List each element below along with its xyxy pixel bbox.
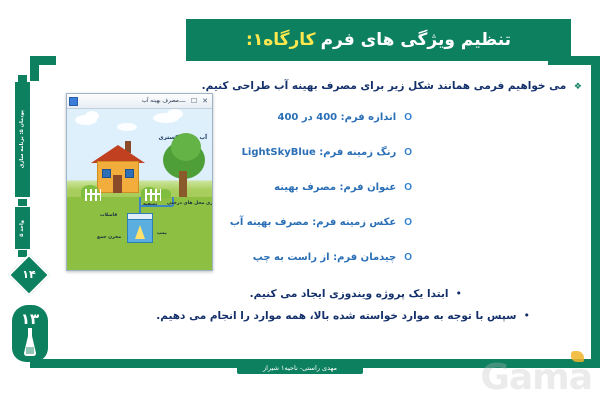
sewage-label: فاضلاب (100, 213, 117, 218)
list-item: O عکس زمینه فرم: مصرف بهینه آب (242, 217, 582, 252)
list-item-label: عکس زمینه فرم: مصرف بهینه آب (230, 217, 396, 228)
list-item-label: عنوان فرم: مصرف بهینه (274, 182, 396, 193)
app-titlebar: مصرف بهینه آب — ☐ ✕ (67, 94, 212, 109)
app-window-title: مصرف بهینه آب (81, 98, 179, 104)
fence-icon (145, 189, 161, 201)
minimize-icon[interactable]: — (179, 98, 186, 105)
tank-label: مخزن جمع (97, 235, 121, 240)
diamond-page-number: ۱۴ (16, 262, 42, 288)
list-item-label: ابتدا یک پروژه ویندوزی ایجاد می کنیم. (250, 288, 449, 300)
list-item: • سپس با توجه به موارد خواسته شده بالا، … (182, 310, 582, 332)
cloud-icon (167, 109, 183, 119)
house-window-icon (125, 169, 134, 178)
list-marker-icon: O (404, 252, 412, 263)
rail-chapter-block: پودمان ۵: برنامه سازی (15, 82, 30, 197)
rail-section-block: واحد ۵ (15, 207, 30, 249)
slide-root: تنظیم ویژگی های فرم کارگاه۱: پودمان ۵: ب… (0, 0, 600, 400)
list-item: O رنگ زمینه فرم: LightSkyBlue (242, 147, 582, 182)
bullet-icon: • (456, 288, 463, 299)
list-item: • ابتدا یک پروژه ویندوزی ایجاد می کنیم. (182, 288, 582, 310)
app-window-screenshot: مصرف بهینه آب — ☐ ✕ آب های خاکستری (66, 93, 213, 271)
house-door-icon (113, 175, 122, 193)
rail-section-label: واحد ۵ (19, 220, 26, 237)
list-item-label: سپس با توجه به موارد خواسته شده بالا، هم… (156, 310, 516, 322)
requirements-list: O اندازه فرم: 400 در 400 O رنگ زمینه فرم… (242, 112, 582, 287)
list-item-label: رنگ زمینه فرم: LightSkyBlue (242, 147, 397, 158)
list-item: O چیدمان فرم: از راست به چپ (242, 252, 582, 287)
rail-cap-mid (18, 199, 27, 206)
bullet-icon: • (524, 310, 531, 321)
rail-chapter-label: پودمان ۵: برنامه سازی (19, 110, 26, 168)
maximize-icon[interactable]: ☐ (191, 98, 197, 105)
list-item: O عنوان فرم: مصرف بهینه (242, 182, 582, 217)
page-title-main: تنظیم ویژگی های فرم (321, 30, 511, 50)
list-item-label: اندازه فرم: 400 در 400 (278, 112, 397, 123)
list-marker-icon: O (404, 182, 412, 193)
cloud-icon (85, 111, 99, 121)
form-icon (69, 97, 78, 106)
watermark-text: Gama (480, 357, 592, 398)
rail-cap-top (18, 75, 27, 82)
lead-statement: ❖ می خواهیم فرمی همانند شکل زیر برای مصر… (182, 80, 582, 92)
unit-number: ۱۳ (21, 310, 39, 328)
house-window-icon (102, 169, 111, 178)
flask-icon (22, 327, 38, 357)
list-item-label: چیدمان فرم: از راست به چپ (253, 252, 396, 263)
list-marker-icon: O (404, 217, 412, 228)
lead-bullet-icon: ❖ (574, 82, 582, 92)
window-controls: — ☐ ✕ (179, 98, 210, 105)
tree-trunk-icon (179, 171, 187, 197)
unit-badge: ۱۳ (12, 305, 48, 362)
close-icon[interactable]: ✕ (202, 98, 208, 105)
pump-cone-icon (135, 225, 145, 239)
list-marker-icon: O (404, 112, 412, 123)
app-canvas: آب های خاکستری تصفیه فاضلاب (67, 109, 212, 271)
lead-statement-text: می خواهیم فرمی همانند شکل زیر برای مصرف … (202, 80, 567, 92)
cloud-icon (117, 123, 137, 131)
tree-crown-highlight-icon (171, 133, 201, 161)
footer-credit: مهدی راستی- ناحیه۱ شیراز (237, 362, 363, 374)
frame-right-bar (591, 56, 600, 368)
frame-left-arm (30, 56, 56, 65)
steps-list: • ابتدا یک پروژه ویندوزی ایجاد می کنیم. … (182, 288, 582, 332)
diamond-page-badge: ۱۴ (8, 254, 50, 296)
page-title: تنظیم ویژگی های فرم کارگاه۱: (186, 19, 571, 61)
sewage-inline-label: تصفیه (143, 202, 157, 207)
fence-icon (85, 189, 101, 201)
pump-label: پمپ (157, 231, 167, 236)
list-marker-icon: O (404, 147, 412, 158)
page-title-accent: کارگاه۱: (246, 30, 316, 50)
irrigation-label: آبیاری محل های درختی (167, 201, 212, 206)
list-item: O اندازه فرم: 400 در 400 (242, 112, 582, 147)
